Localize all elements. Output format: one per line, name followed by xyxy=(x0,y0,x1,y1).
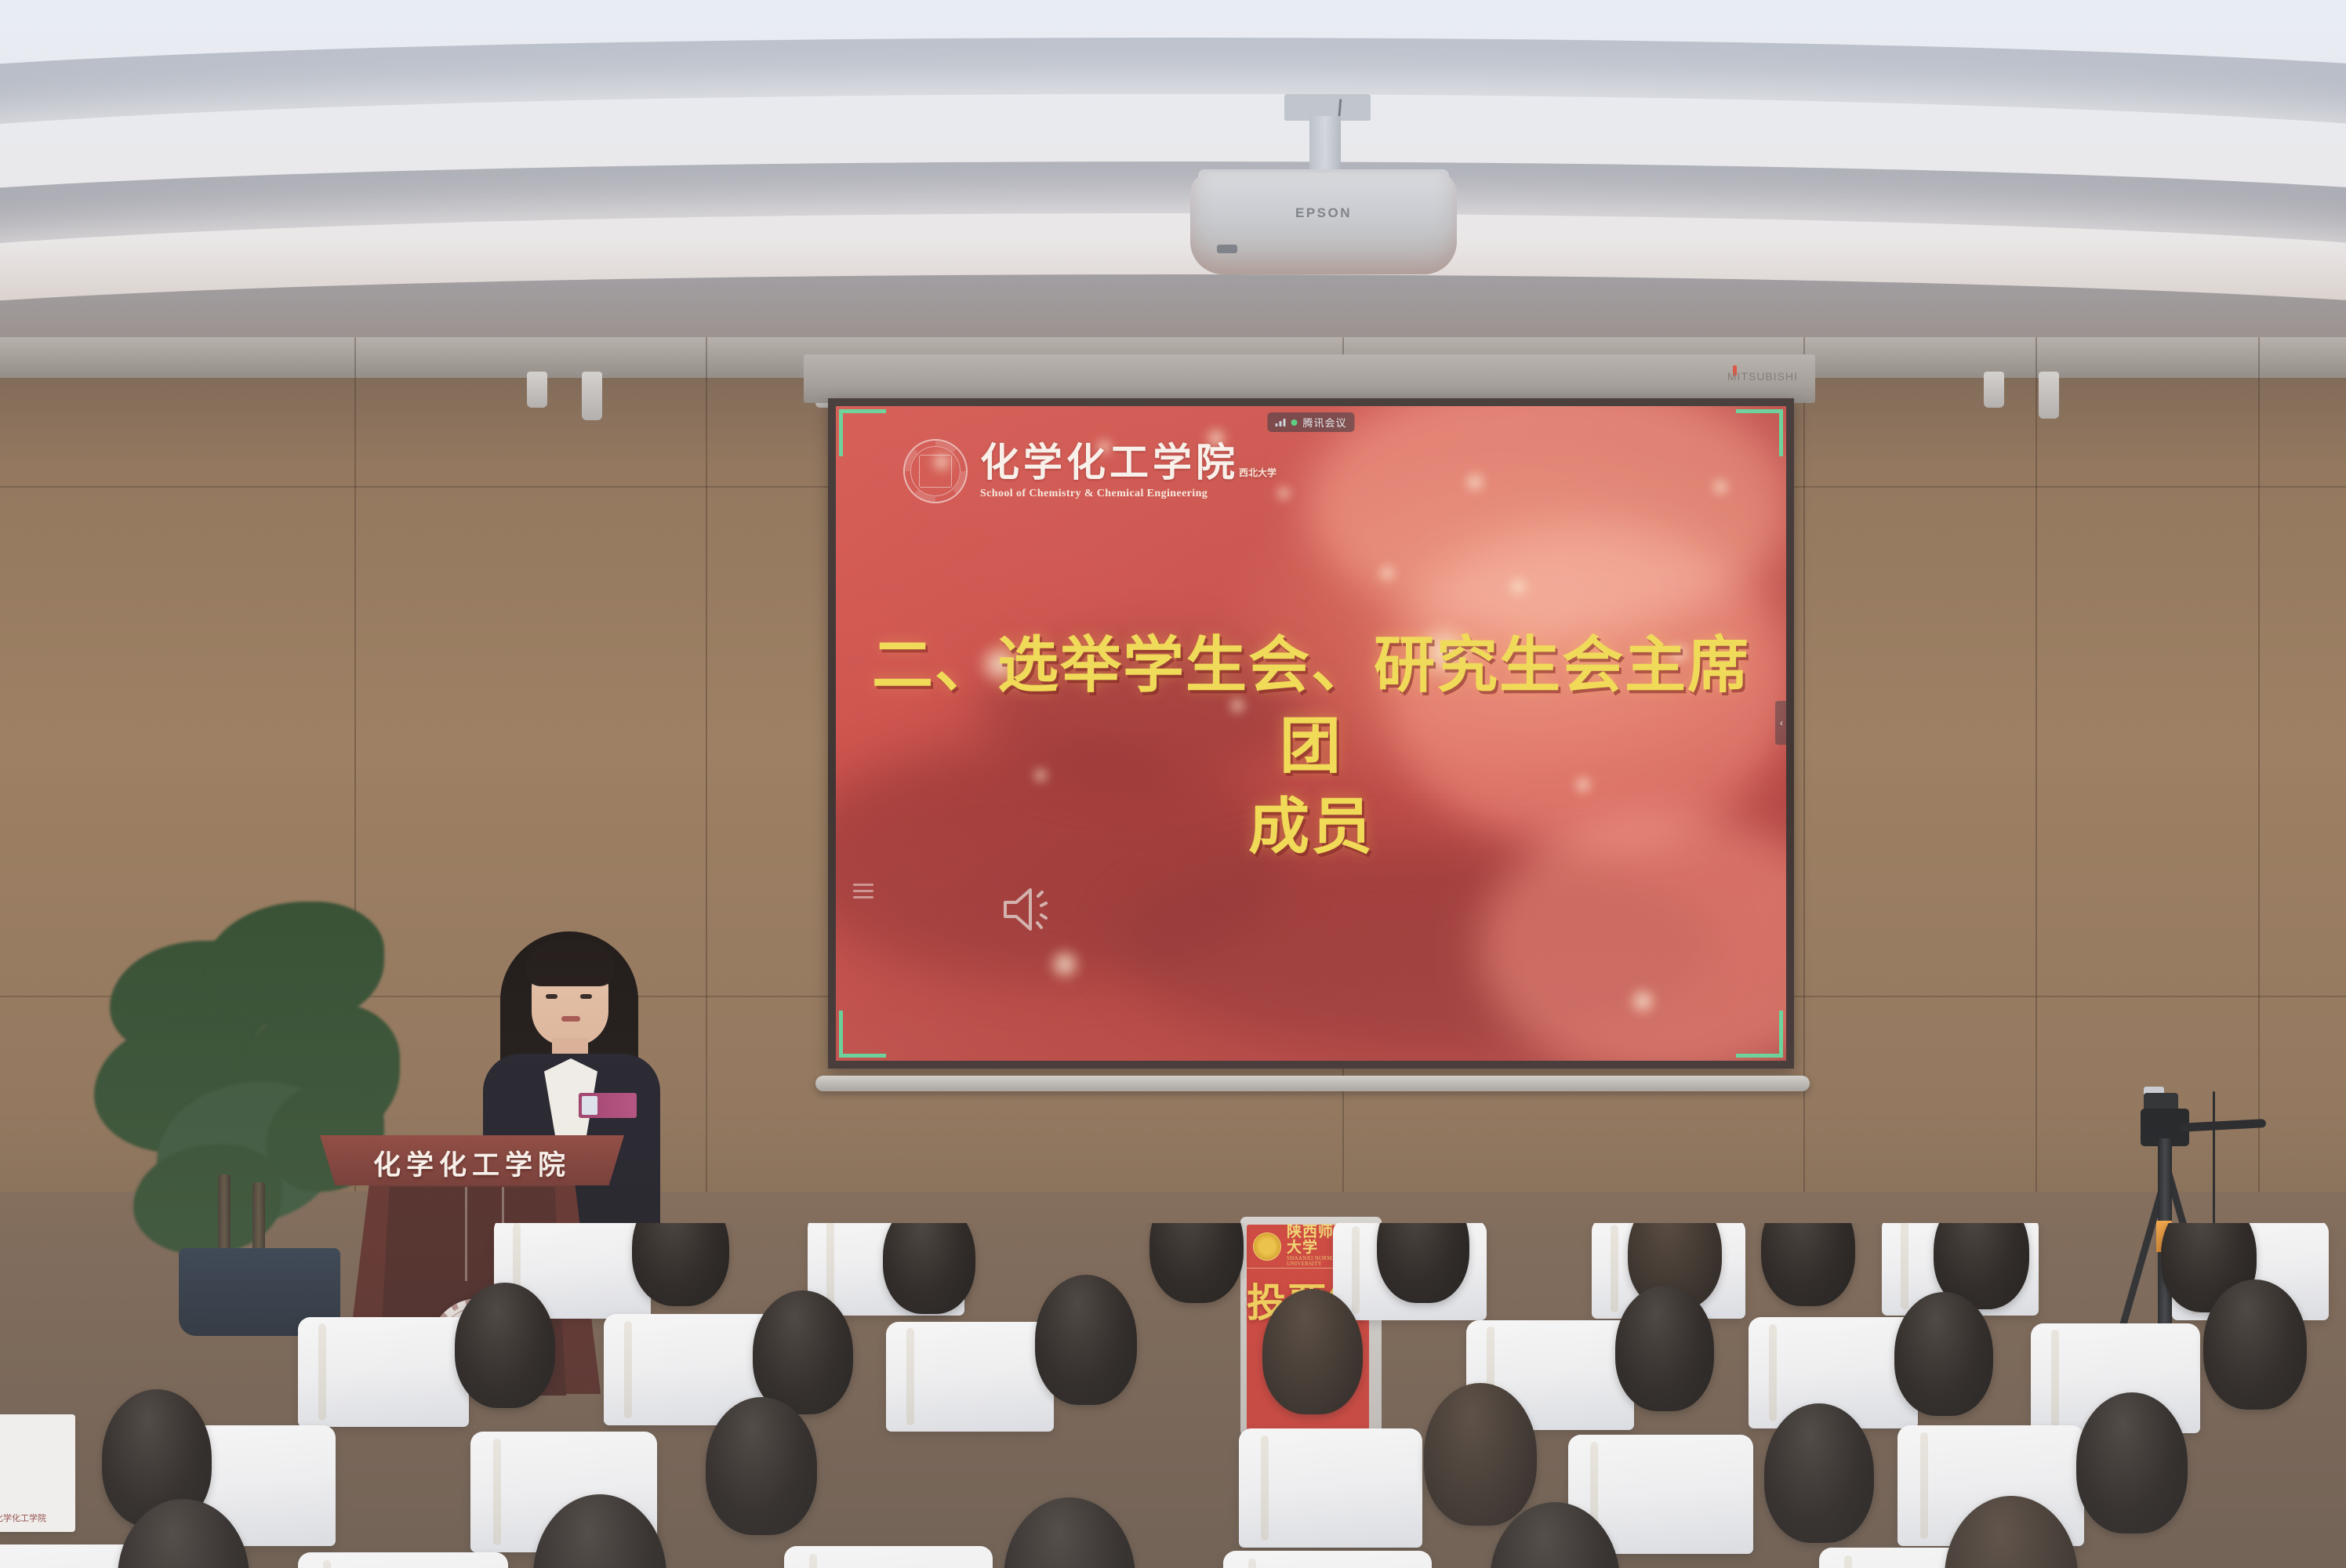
projected-slide[interactable]: 腾讯会议 化学化工学院西北大学 School of Chemistry & Ch… xyxy=(836,406,1786,1061)
audience-head xyxy=(1761,1223,1855,1306)
ceiling-projector: EPSON xyxy=(1190,94,1457,290)
audience-head xyxy=(753,1290,853,1414)
chair[interactable] xyxy=(1239,1428,1422,1548)
audience-head xyxy=(455,1283,555,1408)
audience-seating: 化学化工学院 xyxy=(0,1223,2346,1568)
chair[interactable] xyxy=(886,1322,1054,1432)
school-seal-icon xyxy=(903,439,968,503)
meeting-app-label: 腾讯会议 xyxy=(1302,415,1346,430)
downlight xyxy=(527,372,547,408)
school-logo-lockup: 化学化工学院西北大学 School of Chemistry & Chemica… xyxy=(903,439,1276,503)
projector-body: EPSON xyxy=(1190,172,1457,274)
chair[interactable] xyxy=(298,1317,469,1427)
audience-head xyxy=(1149,1223,1244,1303)
alignment-corner-icon xyxy=(839,409,886,456)
slide-side-panel-toggle[interactable]: ‹ xyxy=(1775,701,1786,745)
projector-mount-pole xyxy=(1309,116,1341,177)
chair[interactable] xyxy=(1223,1551,1432,1568)
connection-dot-icon xyxy=(1291,419,1297,426)
tote-bag: 化学化工学院 xyxy=(0,1414,75,1532)
audience-head xyxy=(1764,1403,1874,1543)
projection-screen-frame: 腾讯会议 化学化工学院西北大学 School of Chemistry & Ch… xyxy=(828,398,1794,1069)
school-name-cn-text: 化学化工学院 xyxy=(980,441,1239,485)
audience-head xyxy=(2076,1392,2188,1534)
tripod-pan-handle[interactable] xyxy=(2180,1119,2266,1132)
screen-bottom-weight-bar xyxy=(815,1076,1810,1091)
audience-head xyxy=(1894,1292,1993,1416)
audience-head xyxy=(1035,1275,1137,1405)
alignment-corner-icon xyxy=(839,1011,886,1058)
school-name-cn-sup: 西北大学 xyxy=(1239,467,1276,478)
alignment-corner-icon xyxy=(1736,1011,1783,1058)
audience-head xyxy=(1262,1289,1363,1414)
audience-head xyxy=(706,1397,817,1535)
signal-bars-icon xyxy=(1275,418,1285,426)
slide-title: 二、选举学生会、研究生会主席团 成员 xyxy=(867,626,1755,868)
downlight xyxy=(2039,372,2059,419)
ceiling xyxy=(0,0,2346,345)
audience-head xyxy=(632,1223,729,1306)
audience-head xyxy=(1424,1383,1537,1526)
audience-head xyxy=(1004,1497,1135,1568)
audience-head xyxy=(1615,1286,1714,1411)
speaker-icon[interactable] xyxy=(1000,884,1057,935)
projector-brand-label: EPSON xyxy=(1190,205,1457,221)
presenter-name-badge xyxy=(579,1093,637,1118)
ceiling-band xyxy=(0,274,2346,345)
downlight xyxy=(582,372,602,420)
slide-title-line-2: 成员 xyxy=(867,787,1755,868)
alignment-corner-icon xyxy=(1736,409,1783,456)
meeting-status-pill[interactable]: 腾讯会议 xyxy=(1267,412,1354,432)
hamburger-menu-icon[interactable] xyxy=(853,884,873,904)
tote-bag-label: 化学化工学院 xyxy=(0,1512,46,1524)
projector-vent xyxy=(1217,245,1237,253)
auditorium-scene: EPSON MITSUBISHI xyxy=(0,0,2346,1568)
school-name-en: School of Chemistry & Chemical Engineeri… xyxy=(980,488,1276,500)
podium-sign-text: 化学化工学院 xyxy=(320,1143,624,1183)
screen-housing-valance: MITSUBISHI xyxy=(804,354,1815,403)
valance-brand-label: MITSUBISHI xyxy=(1727,370,1798,383)
school-name-cn: 化学化工学院西北大学 xyxy=(980,443,1276,482)
chair[interactable] xyxy=(298,1552,508,1568)
downlight xyxy=(1984,372,2004,408)
audience-head xyxy=(883,1223,975,1314)
chair[interactable] xyxy=(784,1546,993,1568)
audience-head xyxy=(2203,1279,2307,1410)
slide-title-line-1: 二、选举学生会、研究生会主席团 xyxy=(867,626,1755,787)
audience-head xyxy=(1377,1223,1469,1303)
